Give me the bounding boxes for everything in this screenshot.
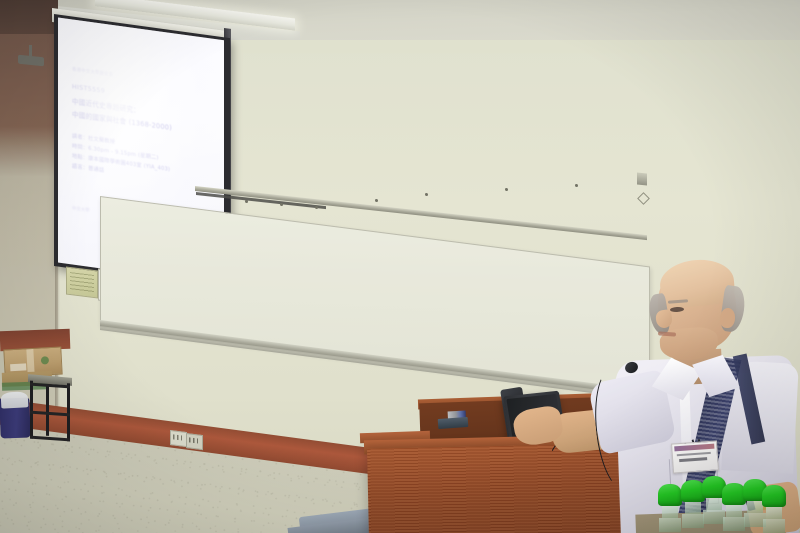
rack-shelf <box>30 411 70 417</box>
bottle-neck <box>706 498 722 510</box>
box-label <box>10 363 26 371</box>
bottle-body <box>763 519 785 533</box>
slide-content: 香港中文大學歷史系 HIST5559 中國近代史專題研究： 中國的國家與社會 (… <box>72 67 222 194</box>
bottle-body <box>682 514 704 528</box>
outlet-sockets <box>173 434 182 440</box>
notice-text-lines <box>70 272 94 294</box>
rail-screw <box>375 199 378 202</box>
outlet-sockets <box>189 437 198 443</box>
water-bottle <box>658 484 682 532</box>
rail-screw <box>315 206 318 209</box>
rail-screw <box>505 188 508 191</box>
box-marking <box>41 356 49 364</box>
rack-shelf <box>30 383 70 389</box>
badge-subtitle-line <box>679 457 707 462</box>
bottle-body <box>659 518 681 532</box>
control-panel[interactable] <box>438 417 469 429</box>
slide-logo: 中文大學 <box>72 205 90 213</box>
bottle-neck <box>662 506 678 518</box>
wall-power-outlet[interactable] <box>170 430 202 448</box>
bottle-cap <box>658 484 682 506</box>
name-badge <box>671 440 719 473</box>
bottle-neck <box>726 505 742 517</box>
bottle-cap <box>762 485 786 507</box>
bin-liner-bag <box>1 391 29 408</box>
badge-name-line <box>677 452 711 456</box>
rail-screw <box>245 200 248 203</box>
notice-poster <box>66 267 98 299</box>
water-bottle-group <box>658 486 784 533</box>
bottle-neck <box>766 507 782 519</box>
black-metal-rack <box>30 381 70 442</box>
rail-screw <box>575 184 578 187</box>
water-bottle <box>762 485 786 533</box>
rail-screw <box>280 203 283 206</box>
badge-header-band <box>674 444 714 452</box>
lecture-hall-photo: 香港中文大學歷史系 HIST5559 中國近代史專題研究： 中國的國家與社會 (… <box>0 0 800 533</box>
rail-screw <box>425 193 428 196</box>
bottle-body <box>723 517 745 531</box>
rail-end-cap <box>637 172 647 185</box>
bottle-neck <box>685 502 701 514</box>
bottle-neck <box>747 501 763 513</box>
